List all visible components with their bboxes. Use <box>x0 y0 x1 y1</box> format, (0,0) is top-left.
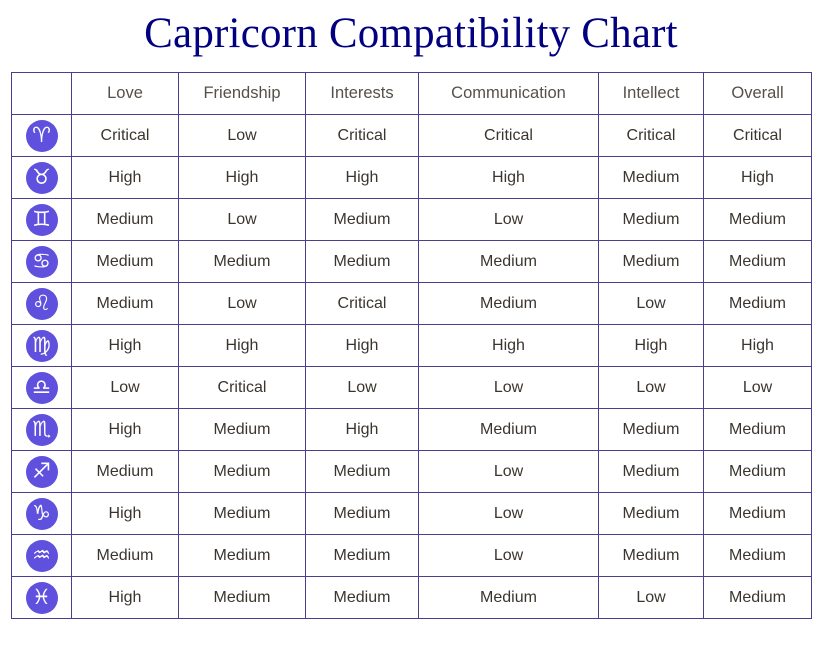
scorpio-icon: ♏ <box>26 414 58 446</box>
cell-cancer-overall: Medium <box>704 241 812 283</box>
compatibility-table: LoveFriendshipInterestsCommunicationInte… <box>11 72 812 619</box>
cell-leo-overall: Medium <box>704 283 812 325</box>
cell-leo-communication: Medium <box>419 283 599 325</box>
cell-pisces-interests: Medium <box>306 577 419 619</box>
cell-taurus-intellect: Medium <box>599 157 704 199</box>
cell-pisces-overall: Medium <box>704 577 812 619</box>
cell-aquarius-overall: Medium <box>704 535 812 577</box>
sign-cell-scorpio: ♏ <box>12 409 72 451</box>
cell-aquarius-intellect: Medium <box>599 535 704 577</box>
aries-icon: ♈ <box>26 120 58 152</box>
table-row: ♒MediumMediumMediumLowMediumMedium <box>12 535 812 577</box>
cell-aquarius-love: Medium <box>72 535 179 577</box>
cell-virgo-communication: High <box>419 325 599 367</box>
capricorn-icon: ♑ <box>26 498 58 530</box>
table-row: ♎LowCriticalLowLowLowLow <box>12 367 812 409</box>
cell-sagittarius-love: Medium <box>72 451 179 493</box>
cell-libra-interests: Low <box>306 367 419 409</box>
aquarius-icon: ♒ <box>26 540 58 572</box>
cell-leo-intellect: Low <box>599 283 704 325</box>
sign-cell-aquarius: ♒ <box>12 535 72 577</box>
cell-gemini-love: Medium <box>72 199 179 241</box>
cell-aries-intellect: Critical <box>599 115 704 157</box>
sign-cell-libra: ♎ <box>12 367 72 409</box>
header-cell-interests: Interests <box>306 73 419 115</box>
cell-pisces-love: High <box>72 577 179 619</box>
cell-taurus-love: High <box>72 157 179 199</box>
cell-scorpio-love: High <box>72 409 179 451</box>
cell-aquarius-friendship: Medium <box>179 535 306 577</box>
cell-libra-friendship: Critical <box>179 367 306 409</box>
table-row: ♏HighMediumHighMediumMediumMedium <box>12 409 812 451</box>
taurus-icon: ♉ <box>26 162 58 194</box>
sign-cell-taurus: ♉ <box>12 157 72 199</box>
header-cell-friendship: Friendship <box>179 73 306 115</box>
cell-cancer-communication: Medium <box>419 241 599 283</box>
table-row: ♉HighHighHighHighMediumHigh <box>12 157 812 199</box>
cell-leo-friendship: Low <box>179 283 306 325</box>
sign-cell-capricorn: ♑ <box>12 493 72 535</box>
cell-aries-communication: Critical <box>419 115 599 157</box>
cell-leo-interests: Critical <box>306 283 419 325</box>
cell-capricorn-friendship: Medium <box>179 493 306 535</box>
sign-cell-sagittarius: ♐ <box>12 451 72 493</box>
cell-gemini-interests: Medium <box>306 199 419 241</box>
cell-sagittarius-friendship: Medium <box>179 451 306 493</box>
cell-aquarius-interests: Medium <box>306 535 419 577</box>
pisces-icon: ♓ <box>26 582 58 614</box>
table-row: ♑HighMediumMediumLowMediumMedium <box>12 493 812 535</box>
cell-leo-love: Medium <box>72 283 179 325</box>
cell-aquarius-communication: Low <box>419 535 599 577</box>
cancer-icon: ♋ <box>26 246 58 278</box>
sign-cell-aries: ♈ <box>12 115 72 157</box>
libra-icon: ♎ <box>26 372 58 404</box>
cell-capricorn-intellect: Medium <box>599 493 704 535</box>
cell-sagittarius-intellect: Medium <box>599 451 704 493</box>
cell-aries-friendship: Low <box>179 115 306 157</box>
cell-gemini-overall: Medium <box>704 199 812 241</box>
cell-virgo-intellect: High <box>599 325 704 367</box>
table-row: ♐MediumMediumMediumLowMediumMedium <box>12 451 812 493</box>
cell-sagittarius-communication: Low <box>419 451 599 493</box>
cell-scorpio-intellect: Medium <box>599 409 704 451</box>
header-cell-communication: Communication <box>419 73 599 115</box>
cell-aries-overall: Critical <box>704 115 812 157</box>
cell-scorpio-interests: High <box>306 409 419 451</box>
cell-aries-interests: Critical <box>306 115 419 157</box>
cell-capricorn-overall: Medium <box>704 493 812 535</box>
cell-pisces-communication: Medium <box>419 577 599 619</box>
header-row: LoveFriendshipInterestsCommunicationInte… <box>12 73 812 115</box>
cell-scorpio-communication: Medium <box>419 409 599 451</box>
sign-cell-leo: ♌ <box>12 283 72 325</box>
table-row: ♌MediumLowCriticalMediumLowMedium <box>12 283 812 325</box>
cell-gemini-friendship: Low <box>179 199 306 241</box>
table-header: LoveFriendshipInterestsCommunicationInte… <box>12 73 812 115</box>
cell-libra-overall: Low <box>704 367 812 409</box>
cell-virgo-interests: High <box>306 325 419 367</box>
table-row: ♈CriticalLowCriticalCriticalCriticalCrit… <box>12 115 812 157</box>
cell-sagittarius-overall: Medium <box>704 451 812 493</box>
cell-gemini-communication: Low <box>419 199 599 241</box>
sign-cell-gemini: ♊ <box>12 199 72 241</box>
header-cell-overall: Overall <box>704 73 812 115</box>
cell-capricorn-interests: Medium <box>306 493 419 535</box>
cell-virgo-overall: High <box>704 325 812 367</box>
sagittarius-icon: ♐ <box>26 456 58 488</box>
cell-capricorn-love: High <box>72 493 179 535</box>
cell-gemini-intellect: Medium <box>599 199 704 241</box>
cell-cancer-intellect: Medium <box>599 241 704 283</box>
table-row: ♊MediumLowMediumLowMediumMedium <box>12 199 812 241</box>
cell-aries-love: Critical <box>72 115 179 157</box>
cell-virgo-friendship: High <box>179 325 306 367</box>
cell-sagittarius-interests: Medium <box>306 451 419 493</box>
header-cell-sign <box>12 73 72 115</box>
leo-icon: ♌ <box>26 288 58 320</box>
cell-pisces-friendship: Medium <box>179 577 306 619</box>
sign-cell-cancer: ♋ <box>12 241 72 283</box>
virgo-icon: ♍ <box>26 330 58 362</box>
table-row: ♍HighHighHighHighHighHigh <box>12 325 812 367</box>
cell-capricorn-communication: Low <box>419 493 599 535</box>
gemini-icon: ♊ <box>26 204 58 236</box>
cell-libra-love: Low <box>72 367 179 409</box>
table-row: ♓HighMediumMediumMediumLowMedium <box>12 577 812 619</box>
page-title: Capricorn Compatibility Chart <box>0 0 822 55</box>
cell-taurus-friendship: High <box>179 157 306 199</box>
cell-cancer-love: Medium <box>72 241 179 283</box>
cell-libra-intellect: Low <box>599 367 704 409</box>
sign-cell-virgo: ♍ <box>12 325 72 367</box>
cell-libra-communication: Low <box>419 367 599 409</box>
cell-scorpio-friendship: Medium <box>179 409 306 451</box>
cell-taurus-overall: High <box>704 157 812 199</box>
table-row: ♋MediumMediumMediumMediumMediumMedium <box>12 241 812 283</box>
cell-pisces-intellect: Low <box>599 577 704 619</box>
header-cell-intellect: Intellect <box>599 73 704 115</box>
compatibility-table-container: LoveFriendshipInterestsCommunicationInte… <box>0 55 822 619</box>
cell-virgo-love: High <box>72 325 179 367</box>
cell-taurus-communication: High <box>419 157 599 199</box>
cell-taurus-interests: High <box>306 157 419 199</box>
cell-cancer-friendship: Medium <box>179 241 306 283</box>
header-cell-love: Love <box>72 73 179 115</box>
cell-cancer-interests: Medium <box>306 241 419 283</box>
cell-scorpio-overall: Medium <box>704 409 812 451</box>
table-body: ♈CriticalLowCriticalCriticalCriticalCrit… <box>12 115 812 619</box>
sign-cell-pisces: ♓ <box>12 577 72 619</box>
